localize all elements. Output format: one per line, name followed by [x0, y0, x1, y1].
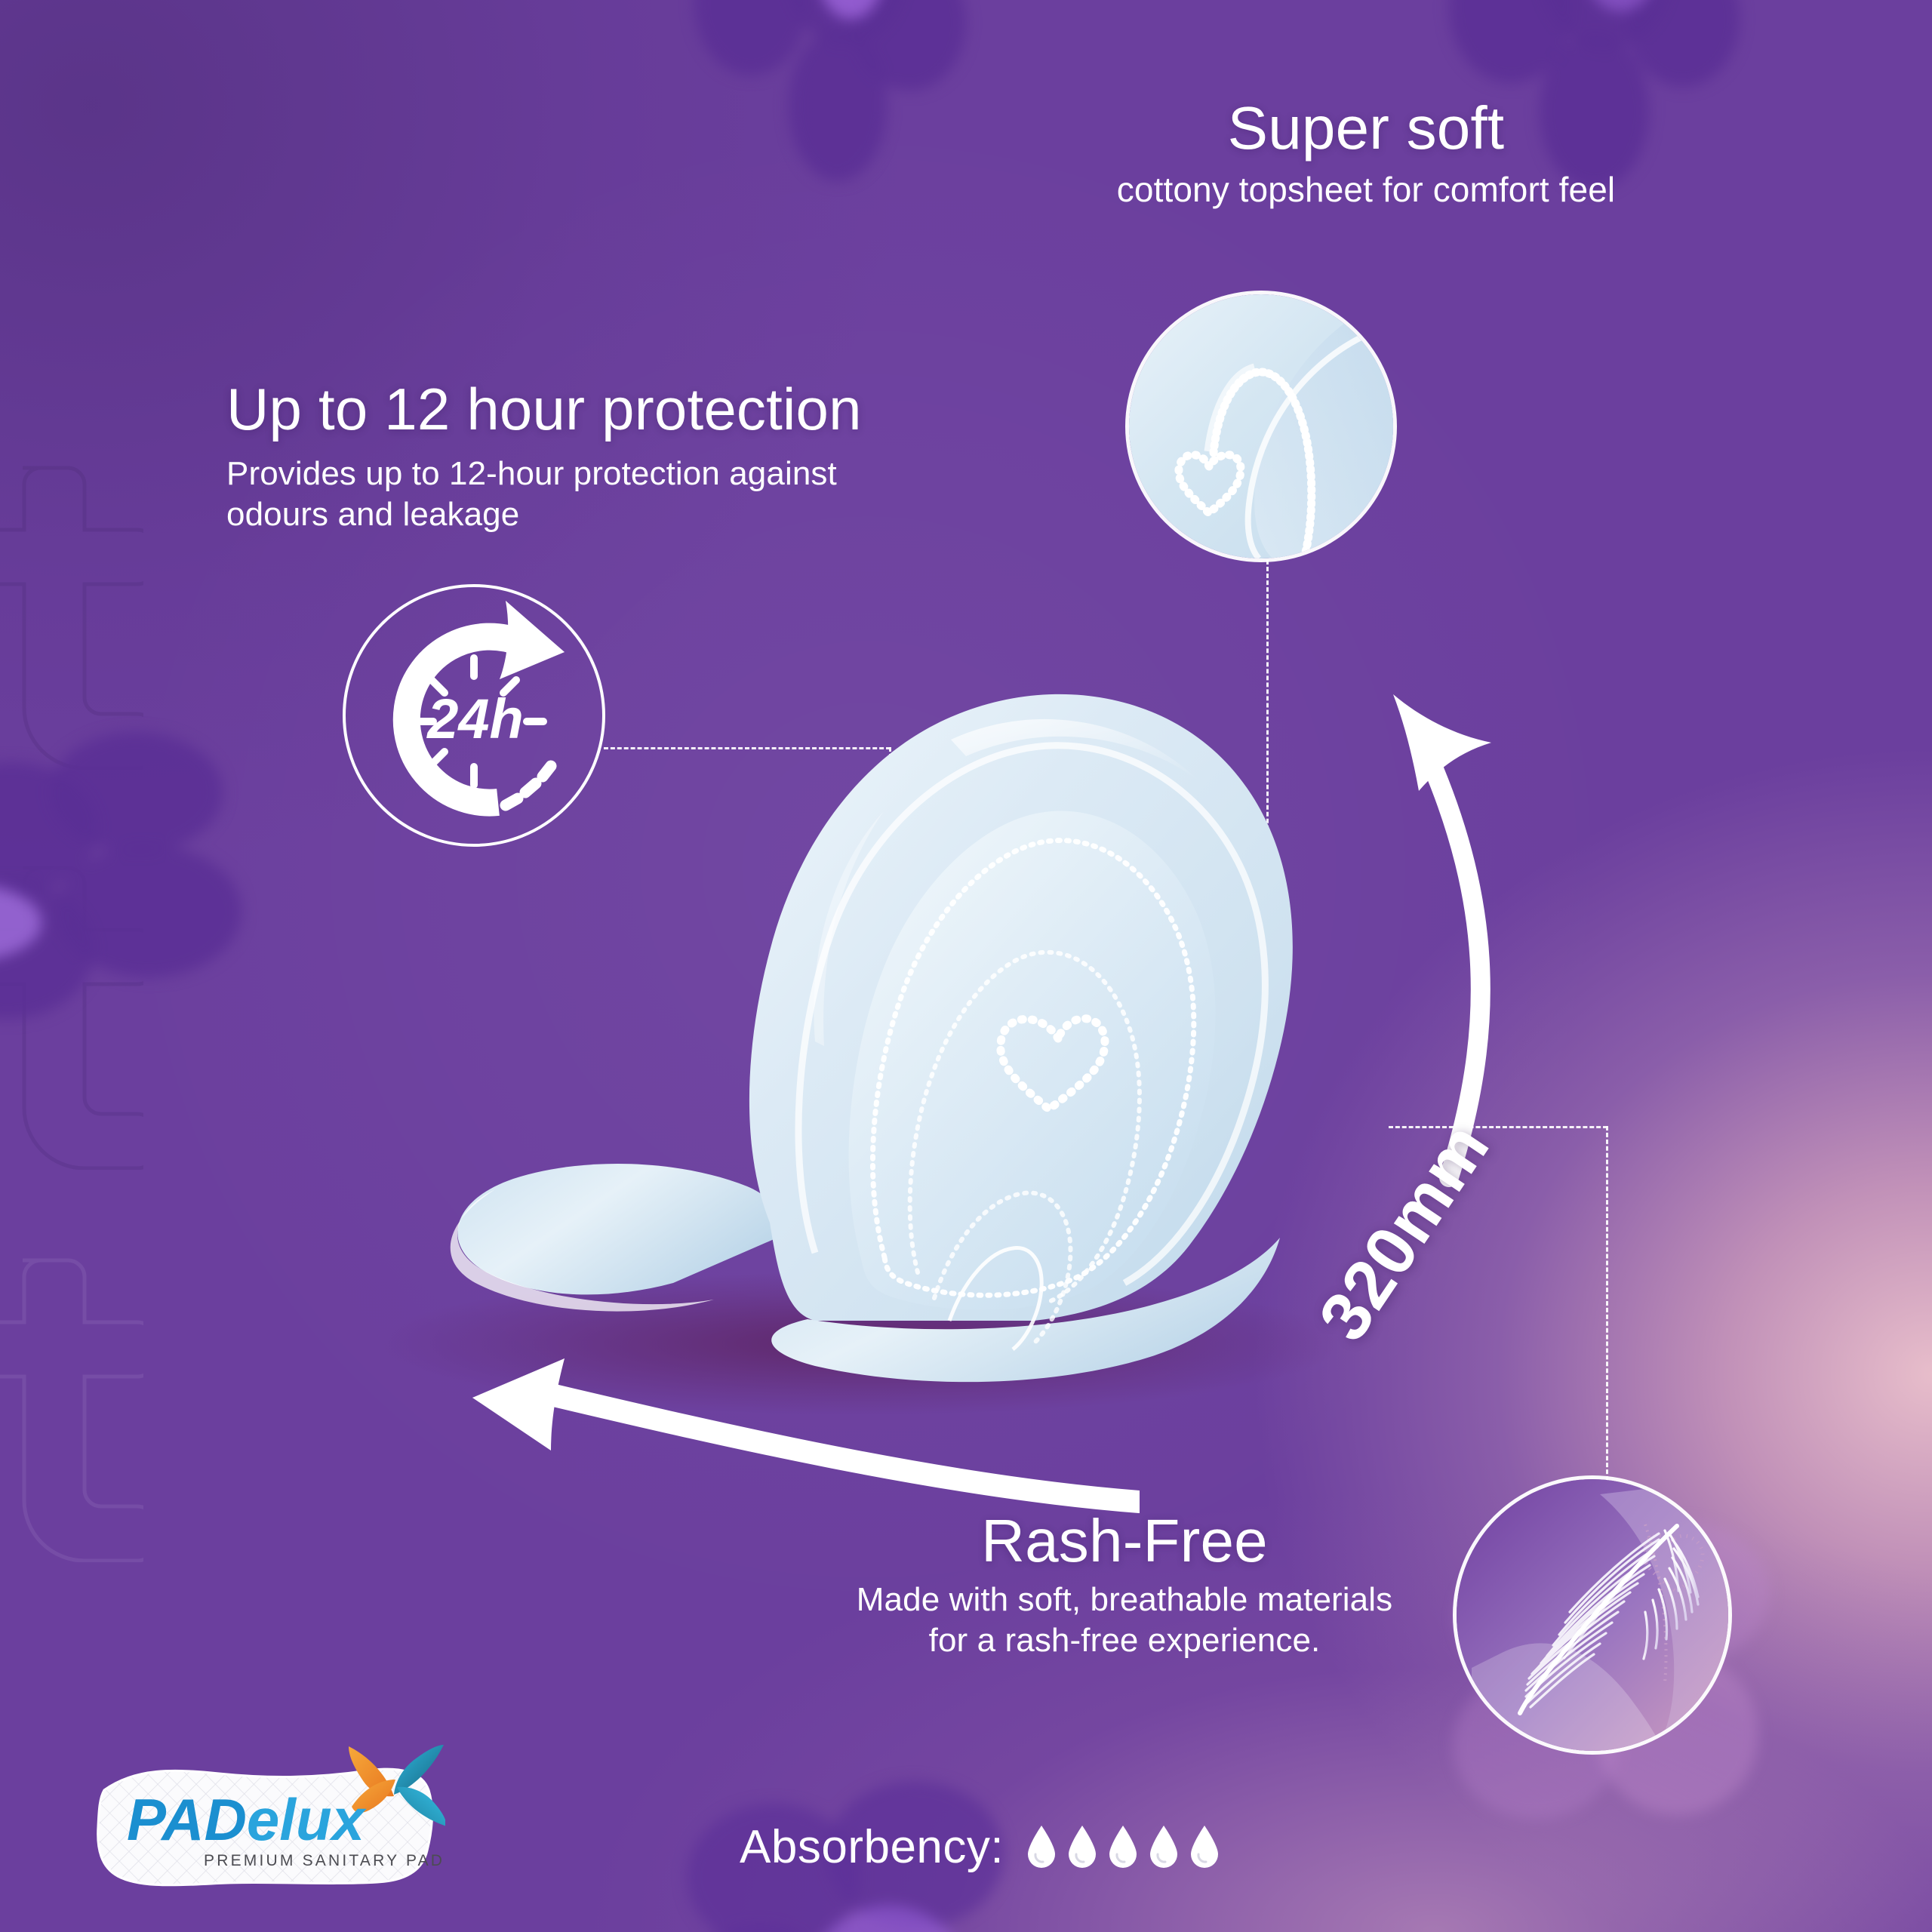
- water-drop-icon: [1106, 1824, 1140, 1869]
- rashfree-subtitle-line2: for a rash-free experience.: [792, 1620, 1457, 1661]
- supersoft-title: Super soft: [1041, 97, 1690, 159]
- curved-arrow-up-icon: [1366, 679, 1555, 1192]
- absorbency-drops: [1025, 1824, 1221, 1869]
- badge-24h: 24h: [338, 580, 610, 851]
- feature-rashfree: Rash-Free Made with soft, breathable mat…: [792, 1509, 1457, 1661]
- protection-subtitle: Provides up to 12-hour protection agains…: [226, 454, 906, 534]
- watermark-letter-t: [0, 1245, 143, 1562]
- leader-line-rashfree-vertical: [1606, 1126, 1608, 1481]
- water-drop-icon: [1147, 1824, 1180, 1869]
- inset-supersoft: [1129, 294, 1393, 558]
- pad-topsheet-closeup-icon: [1129, 294, 1393, 558]
- logo-tagline: PREMIUM SANITARY PADS: [204, 1852, 445, 1869]
- infographic-canvas: 320mm 24h: [0, 0, 1932, 1932]
- flower-decoration: [0, 717, 294, 1094]
- feather-icon: [1457, 1479, 1728, 1751]
- absorbency-label: Absorbency:: [740, 1820, 1004, 1874]
- supersoft-subtitle: cottony topsheet for comfort feel: [1041, 168, 1690, 211]
- water-drop-icon: [1066, 1824, 1099, 1869]
- rashfree-title: Rash-Free: [792, 1509, 1457, 1572]
- rashfree-subtitle-line1: Made with soft, breathable materials: [792, 1580, 1457, 1620]
- feature-protection: Up to 12 hour protection Provides up to …: [226, 379, 996, 534]
- flower-decoration: [664, 0, 981, 219]
- water-drop-icon: [1188, 1824, 1221, 1869]
- clock-arrow-24h-icon: 24h: [338, 580, 610, 851]
- brand-logo[interactable]: PADelux PREMIUM SANITARY PADS PAD elux P…: [91, 1736, 445, 1917]
- badge-24h-label: 24h: [426, 688, 524, 750]
- feature-supersoft: Super soft cottony topsheet for comfort …: [1041, 97, 1690, 211]
- water-drop-icon: [1025, 1824, 1058, 1869]
- absorbency-rating: Absorbency:: [740, 1805, 1221, 1888]
- inset-rashfree: [1457, 1479, 1728, 1751]
- protection-title: Up to 12 hour protection: [226, 379, 996, 440]
- logo-wordmark: PADelux: [127, 1786, 368, 1853]
